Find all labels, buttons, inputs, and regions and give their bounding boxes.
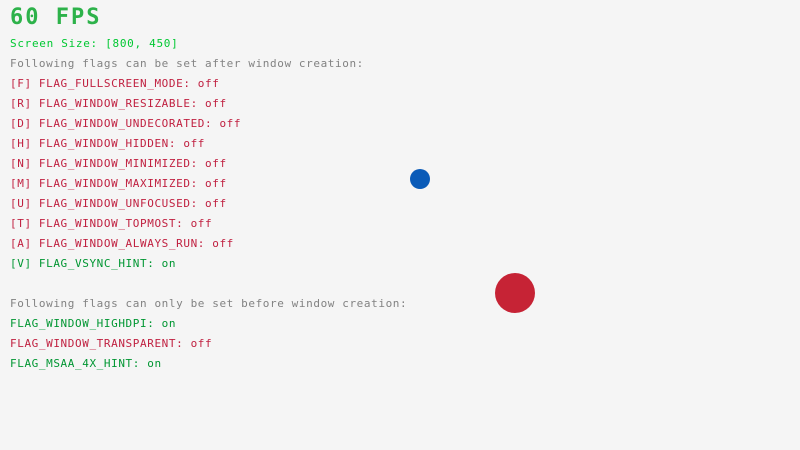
runtime-flags-section-note: Following flags can be set after window …: [10, 58, 364, 70]
flag-row-flag-msaa-4x-hint: FLAG_MSAA_4X_HINT: on: [10, 358, 800, 378]
screen-size-label: Screen Size: [800, 450]: [10, 38, 178, 50]
startup-flags-list: FLAG_WINDOW_HIGHDPI: onFLAG_WINDOW_TRANS…: [0, 318, 800, 378]
flag-row-flag-window-hidden[interactable]: [H] FLAG_WINDOW_HIDDEN: off: [10, 138, 800, 158]
flag-row-flag-fullscreen-mode[interactable]: [F] FLAG_FULLSCREEN_MODE: off: [10, 78, 800, 98]
runtime-flags-list: [F] FLAG_FULLSCREEN_MODE: off[R] FLAG_WI…: [0, 78, 800, 278]
flag-row-flag-vsync-hint[interactable]: [V] FLAG_VSYNC_HINT: on: [10, 258, 800, 278]
flag-row-flag-window-resizable[interactable]: [R] FLAG_WINDOW_RESIZABLE: off: [10, 98, 800, 118]
flag-row-flag-window-minimized[interactable]: [N] FLAG_WINDOW_MINIMIZED: off: [10, 158, 800, 178]
flag-row-flag-window-undecorated[interactable]: [D] FLAG_WINDOW_UNDECORATED: off: [10, 118, 800, 138]
flag-row-flag-window-always-run[interactable]: [A] FLAG_WINDOW_ALWAYS_RUN: off: [10, 238, 800, 258]
flag-row-flag-window-topmost[interactable]: [T] FLAG_WINDOW_TOPMOST: off: [10, 218, 800, 238]
red-ball: [495, 273, 535, 313]
fps-counter: 60 FPS: [10, 6, 101, 30]
raylib-window-flags-canvas[interactable]: 60 FPS Screen Size: [800, 450] Following…: [0, 0, 800, 450]
flag-row-flag-window-highdpi: FLAG_WINDOW_HIGHDPI: on: [10, 318, 800, 338]
startup-flags-section-note: Following flags can only be set before w…: [10, 298, 407, 310]
blue-ball: [410, 169, 430, 189]
flag-row-flag-window-transparent: FLAG_WINDOW_TRANSPARENT: off: [10, 338, 800, 358]
flag-row-flag-window-unfocused[interactable]: [U] FLAG_WINDOW_UNFOCUSED: off: [10, 198, 800, 218]
flag-row-flag-window-maximized[interactable]: [M] FLAG_WINDOW_MAXIMIZED: off: [10, 178, 800, 198]
